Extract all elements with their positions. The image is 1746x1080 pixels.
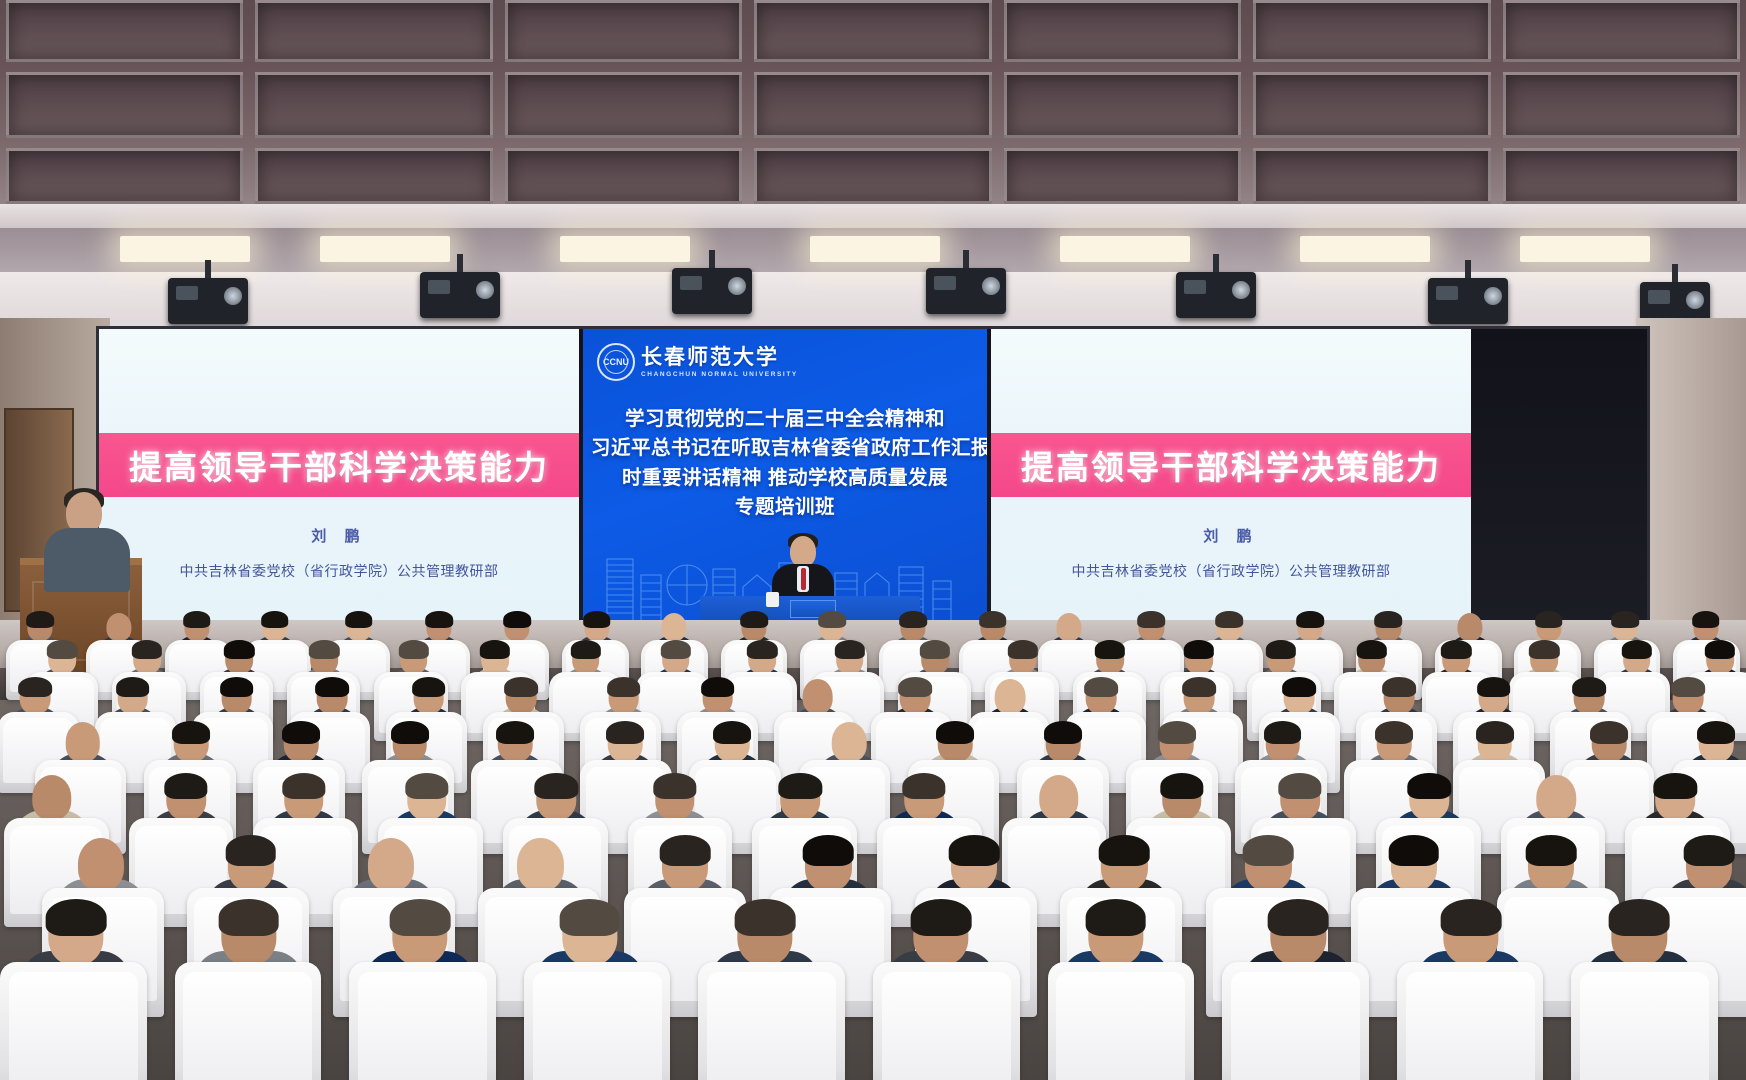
audience-member-hair [1182, 677, 1216, 698]
audience-member-hair [1389, 835, 1440, 866]
projector-lens-icon [1232, 281, 1250, 299]
audience-member-hair [1692, 611, 1720, 628]
audience-member-hair [405, 773, 448, 799]
audience-member-hair [412, 677, 446, 698]
speaker-body [44, 528, 130, 592]
audience-member-hair [1216, 611, 1244, 628]
projector-lens-icon [982, 277, 1000, 295]
audience-member-hair [503, 611, 531, 628]
audience-member-hair [899, 611, 927, 628]
audience-member-hair [936, 721, 974, 744]
audience-member-head [368, 838, 414, 891]
audience-member-hair [1264, 721, 1302, 744]
audience-member-hair [1697, 721, 1735, 744]
audience-member-hair [571, 640, 601, 658]
audience-member-hair [496, 721, 534, 744]
ceiling-projector-4 [926, 268, 1006, 314]
audience-member-hair [1158, 721, 1196, 744]
audience-member-hair [425, 611, 453, 628]
audience-member-head [1537, 775, 1577, 820]
ceiling-coffer [1004, 148, 1241, 204]
ceiling-light-panel [810, 236, 940, 262]
center-title-line-2: 习近平总书记在听取吉林省委省政府工作汇报 [591, 434, 979, 463]
ceiling-projector-2 [420, 272, 500, 318]
right-slide-speaker-name: 刘 鹏 [991, 525, 1471, 546]
presenter-tie [801, 568, 806, 590]
university-name-en: CHANGCHUN NORMAL UNIVERSITY [641, 371, 798, 378]
projector-lens-icon [728, 277, 746, 295]
audience-member-hair [835, 640, 865, 658]
center-slide-title: 学习贯彻党的二十届三中全会精神和 习近平总书记在听取吉林省委省政府工作汇报 时重… [591, 405, 979, 522]
ceiling-coffer-row-1 [0, 0, 1746, 62]
audience-chair[interactable] [1222, 962, 1369, 1080]
ceiling-light-panel [120, 236, 250, 262]
audience-member-hair [1085, 899, 1146, 936]
audience-member-hair [898, 677, 932, 698]
audience-member-hair [282, 773, 325, 799]
ceiling-light-panel [1520, 236, 1650, 262]
projector-lens-icon [224, 287, 242, 305]
ceiling-coffer [505, 0, 742, 62]
audience-member-hair [653, 773, 696, 799]
audience-member-hair [172, 721, 210, 744]
left-slide-speaker-org: 中共吉林省委党校（省行政学院）公共管理教研部 [99, 561, 579, 581]
audience-member-hair [1441, 640, 1471, 658]
ceiling-coffer-row-2 [0, 72, 1746, 138]
ceiling-coffer [505, 148, 742, 204]
audience-member-hair [1296, 611, 1324, 628]
audience-member-hair [713, 721, 751, 744]
audience-member-hair [505, 677, 539, 698]
audience-member-hair [1085, 677, 1119, 698]
audience-member-hair [1099, 835, 1150, 866]
audience-member-hair [1526, 835, 1577, 866]
audience-member-hair [559, 899, 620, 936]
audience-member-hair [345, 611, 373, 628]
audience-member-hair [315, 677, 349, 698]
projector-lens-icon [476, 281, 494, 299]
ceiling-coffer [1253, 72, 1490, 138]
audience-member-hair [1375, 721, 1413, 744]
audience-chair[interactable] [175, 962, 322, 1080]
audience-member-hair [661, 640, 691, 658]
ceiling-projector-1 [168, 278, 248, 324]
audience-member-hair [1278, 773, 1321, 799]
audience-member-head [1039, 775, 1079, 820]
audience-member-hair [1572, 677, 1606, 698]
university-seal-icon: CCNU [597, 343, 635, 381]
audience-member-hair [224, 640, 254, 658]
ceiling-coffer [6, 0, 243, 62]
audience-member-hair [1476, 721, 1514, 744]
audience-member-hair [1095, 640, 1125, 658]
screen-wall: 提高领导干部科学决策能力 刘 鹏 中共吉林省委党校（省行政学院）公共管理教研部 … [96, 326, 1650, 626]
audience-member-hair [1684, 835, 1735, 866]
center-title-line-3: 时重要讲话精神 推动学校高质量发展 [591, 464, 979, 493]
ceiling-coffer [754, 72, 991, 138]
ceiling-coffer [1503, 0, 1740, 62]
audience-member-hair [1441, 899, 1502, 936]
ceiling-coffer [1503, 148, 1740, 204]
audience-member-hair [1654, 773, 1697, 799]
audience-member-hair [803, 835, 854, 866]
audience-member-hair [741, 611, 769, 628]
audience-member-hair [132, 640, 162, 658]
left-slide-speaker-name: 刘 鹏 [99, 525, 579, 546]
audience-member-head [32, 775, 72, 820]
audience-member-head [107, 613, 132, 642]
audience-member-hair [309, 640, 339, 658]
right-wall [1636, 318, 1746, 648]
audience-member-hair [735, 899, 796, 936]
left-slide: 提高领导干部科学决策能力 刘 鹏 中共吉林省委党校（省行政学院）公共管理教研部 [99, 329, 579, 623]
audience-member-hair [949, 835, 1000, 866]
audience-member-hair [535, 773, 578, 799]
ceiling-light-panel [1300, 236, 1430, 262]
audience-member-hair [47, 640, 77, 658]
audience-member-hair [1529, 640, 1559, 658]
ceiling-projector-3 [672, 268, 752, 314]
audience-chair[interactable] [524, 962, 671, 1080]
university-logo-text: 长春师范大学 CHANGCHUN NORMAL UNIVERSITY [641, 346, 798, 377]
audience-member-head [78, 838, 124, 891]
ceiling-projector-6 [1428, 278, 1508, 324]
audience-member-hair [164, 773, 207, 799]
audience-member-hair [480, 640, 510, 658]
audience-member-head [995, 679, 1026, 714]
audience-member-head [517, 838, 563, 891]
ceiling-coffer [1503, 72, 1740, 138]
ceiling-light-panel [320, 236, 450, 262]
left-slide-heading: 提高领导干部科学决策能力 [99, 433, 579, 497]
audience-chair[interactable] [1571, 962, 1718, 1080]
ceiling-coffer [6, 72, 243, 138]
audience-member-hair [1611, 611, 1639, 628]
audience-member-hair [920, 640, 950, 658]
ceiling-coffer [1253, 148, 1490, 204]
audience-member-hair [1007, 640, 1037, 658]
audience-member-hair [1621, 640, 1651, 658]
ceiling-projector-5 [1176, 272, 1256, 318]
university-name-cn: 长春师范大学 [641, 346, 798, 368]
audience-member-hair [660, 835, 711, 866]
audience-member-hair [45, 899, 106, 936]
audience-member-hair [1044, 721, 1082, 744]
audience-member-hair [902, 773, 945, 799]
lecture-hall-scene: 提高领导干部科学决策能力 刘 鹏 中共吉林省委党校（省行政学院）公共管理教研部 … [0, 0, 1746, 1080]
ceiling-coffer [1004, 72, 1241, 138]
right-projection-screen[interactable]: 提高领导干部科学决策能力 刘 鹏 中共吉林省委党校（省行政学院）公共管理教研部 [991, 329, 1471, 623]
ceiling-coffer [255, 72, 492, 138]
ceiling-coffer [1004, 0, 1241, 62]
university-logo: CCNU 长春师范大学 CHANGCHUN NORMAL UNIVERSITY [597, 343, 798, 381]
audience-member-hair [1160, 773, 1203, 799]
audience-chair[interactable] [873, 962, 1020, 1080]
audience-member-hair [225, 835, 276, 866]
audience-member-hair [390, 899, 451, 936]
audience-member-hair [1266, 640, 1296, 658]
ceiling-coffer [1253, 0, 1490, 62]
audience-member-head [66, 722, 101, 761]
audience-member-hair [818, 611, 846, 628]
audience-member-hair [1590, 721, 1628, 744]
right-slide-heading: 提高领导干部科学决策能力 [991, 433, 1471, 497]
audience-member-hair [1382, 677, 1416, 698]
audience-member-hair [1282, 677, 1316, 698]
ceiling-beam [0, 204, 1746, 228]
audience-member-hair [606, 721, 644, 744]
audience-member-hair [1243, 835, 1294, 866]
audience-chair[interactable] [1048, 962, 1195, 1080]
projector-lens-icon [1686, 291, 1704, 309]
audience-member-head [832, 722, 867, 761]
center-title-line-1: 学习贯彻党的二十届三中全会精神和 [591, 405, 979, 434]
left-projection-screen[interactable]: 提高领导干部科学决策能力 刘 鹏 中共吉林省委党校（省行政学院）公共管理教研部 [99, 329, 579, 623]
ceiling-coffer [255, 148, 492, 204]
audience-member-hair [218, 899, 279, 936]
ceiling-light-panel [560, 236, 690, 262]
audience-member-hair [747, 640, 777, 658]
presenter-head [790, 536, 816, 567]
ceiling-coffer [255, 0, 492, 62]
audience-member-hair [583, 611, 611, 628]
audience-member-hair [399, 640, 429, 658]
audience-member-hair [282, 721, 320, 744]
audience-member-hair [910, 899, 971, 936]
audience-member-hair [1705, 640, 1735, 658]
audience-member-hair [116, 677, 150, 698]
audience-member-head [802, 679, 833, 714]
audience-member-hair [1477, 677, 1511, 698]
audience-chair[interactable] [349, 962, 496, 1080]
audience-member-head [1056, 613, 1081, 642]
projector-lens-icon [1484, 287, 1502, 305]
audience-member-hair [1408, 773, 1451, 799]
water-cup[interactable] [766, 592, 779, 607]
audience-member-hair [183, 611, 211, 628]
ceiling-coffer [754, 148, 991, 204]
ceiling-coffer [6, 148, 243, 204]
audience-chair[interactable] [1397, 962, 1544, 1080]
ceiling-coffer-row-3 [0, 148, 1746, 204]
right-slide-speaker-org: 中共吉林省委党校（省行政学院）公共管理教研部 [991, 561, 1471, 581]
audience-member-hair [391, 721, 429, 744]
audience-member-hair [1375, 611, 1403, 628]
ceiling-light-panel [1060, 236, 1190, 262]
audience-member-hair [1671, 677, 1705, 698]
audience-member-hair [261, 611, 289, 628]
audience-member-hair [979, 611, 1007, 628]
audience-member-hair [701, 677, 735, 698]
seal-text: CCNU [603, 358, 629, 367]
audience-member-hair [18, 677, 52, 698]
audience-member-hair [26, 611, 54, 628]
right-slide: 提高领导干部科学决策能力 刘 鹏 中共吉林省委党校（省行政学院）公共管理教研部 [991, 329, 1471, 623]
audience-chair[interactable] [0, 962, 147, 1080]
audience-chair[interactable] [698, 962, 845, 1080]
ceiling-coffer [754, 0, 991, 62]
audience-member-hair [1184, 640, 1214, 658]
audience-member-hair [1138, 611, 1166, 628]
audience-member-hair [1268, 899, 1329, 936]
audience-member-hair [1609, 899, 1670, 936]
audience-member-hair [220, 677, 254, 698]
audience-member-hair [1357, 640, 1387, 658]
audience-member-hair [607, 677, 641, 698]
audience-member-hair [1535, 611, 1563, 628]
audience-member-hair [779, 773, 822, 799]
ceiling-coffer [505, 72, 742, 138]
